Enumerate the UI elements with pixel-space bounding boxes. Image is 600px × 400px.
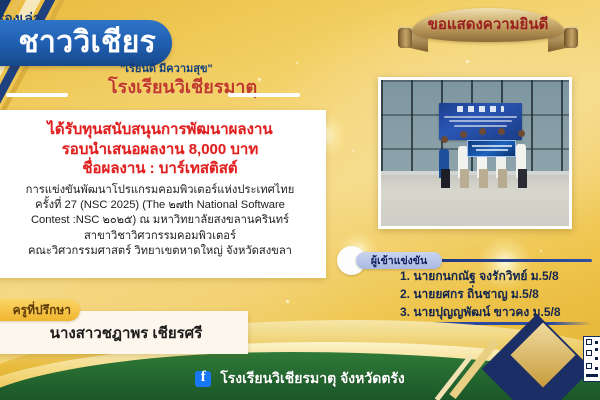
decor-bar-right xyxy=(228,93,300,97)
photo-person-legs xyxy=(479,169,488,188)
photo-person-legs xyxy=(460,169,469,188)
participants-list: 1. นายกนกณัฐ จงรักวิทย์ ม.5/8 2. นายยศกร… xyxy=(400,268,600,321)
list-item: 1. นายกนกณัฐ จงรักวิทย์ ม.5/8 xyxy=(400,268,600,286)
award-detail-line: คณะวิศวกรรมศาสตร์ วิทยาเขตหาดใหญ่ จังหวั… xyxy=(8,244,312,259)
photo-ground xyxy=(381,175,569,226)
award-detail: การแข่งขันพัฒนาโปรแกรมคอมพิวเตอร์แห่งประ… xyxy=(8,183,312,260)
photo-person-legs xyxy=(518,169,527,188)
award-detail-line: การแข่งขันพัฒนาโปรแกรมคอมพิวเตอร์แห่งประ… xyxy=(8,183,312,198)
award-line-1: ได้รับทุนสนับสนุนการพัฒนาผลงาน xyxy=(8,120,312,140)
participants-tab-label: ผู้เข้าแข่งขัน xyxy=(371,252,427,269)
page-title: ชาววิเชียร xyxy=(18,28,156,58)
award-line-3: ชื่อผลงาน : บาร์เทสติสต์ xyxy=(8,159,312,179)
qr-code-icon[interactable] xyxy=(583,336,600,382)
decor-bar-left xyxy=(6,93,68,97)
ribbon-curl-right xyxy=(564,28,578,48)
award-detail-line: Contest :NSC ๒๐๒๕) ณ มหาวิทยาลัยสงขลานคร… xyxy=(8,213,312,228)
footer-text: โรงเรียนวิเชียรมาตุ จังหวัดตรัง xyxy=(220,368,405,390)
advisor-name: นางสาวชฎาพร เชียรศรี xyxy=(36,321,203,345)
poster-canvas: เรื่องเล่า.... ชาววิเชียร "เรียนดี มีควา… xyxy=(0,0,600,400)
advisor-tab: ครูที่ปรึกษา xyxy=(0,299,80,321)
photo-banner-line xyxy=(444,116,517,118)
photo-person-legs xyxy=(498,169,507,188)
photo-person-head xyxy=(441,136,448,143)
award-headline: ได้รับทุนสนับสนุนการพัฒนาผลงาน รอบนำเสนอ… xyxy=(8,120,312,179)
ribbon-curl-left xyxy=(398,28,412,48)
list-item: 2. นายยศกร ถิ่นชาญ ม.5/8 xyxy=(400,286,600,304)
footer-bar: โรงเรียนวิเชียรมาตุ จังหวัดตรัง xyxy=(0,366,600,392)
facebook-icon[interactable] xyxy=(195,371,211,387)
ribbon-body: ขอแสดงความยินดี xyxy=(412,8,564,42)
participants-divider xyxy=(440,259,592,262)
congratulations-ribbon: ขอแสดงความยินดี xyxy=(398,6,578,52)
participants-tab: ผู้เข้าแข่งขัน xyxy=(356,252,442,269)
photo-banner-line xyxy=(454,125,507,127)
ribbon-label: ขอแสดงความยินดี xyxy=(428,12,549,36)
award-detail-line: สาขาวิชาวิศวกรรมคอมพิวเตอร์ xyxy=(8,229,312,244)
photo-banner-logos xyxy=(457,106,503,112)
award-panel: ได้รับทุนสนับสนุนการพัฒนาผลงาน รอบนำเสนอ… xyxy=(0,110,326,278)
team-photo-frame xyxy=(378,77,572,229)
award-detail-line: ครั้งที่ 27 (NSC 2025) (The ๒๗th Nationa… xyxy=(8,198,312,213)
photo-person-legs xyxy=(441,169,450,188)
list-item: 3. นายปุญญพัฒน์ ขาวคง ม.5/8 xyxy=(400,304,600,322)
award-line-2: รอบนำเสนอผลงาน 8,000 บาท xyxy=(8,140,312,160)
team-photo xyxy=(381,80,569,226)
advisor-tab-label: ครูที่ปรึกษา xyxy=(13,301,71,320)
photo-banner-line xyxy=(449,120,512,122)
photo-award-cheque xyxy=(467,140,516,158)
